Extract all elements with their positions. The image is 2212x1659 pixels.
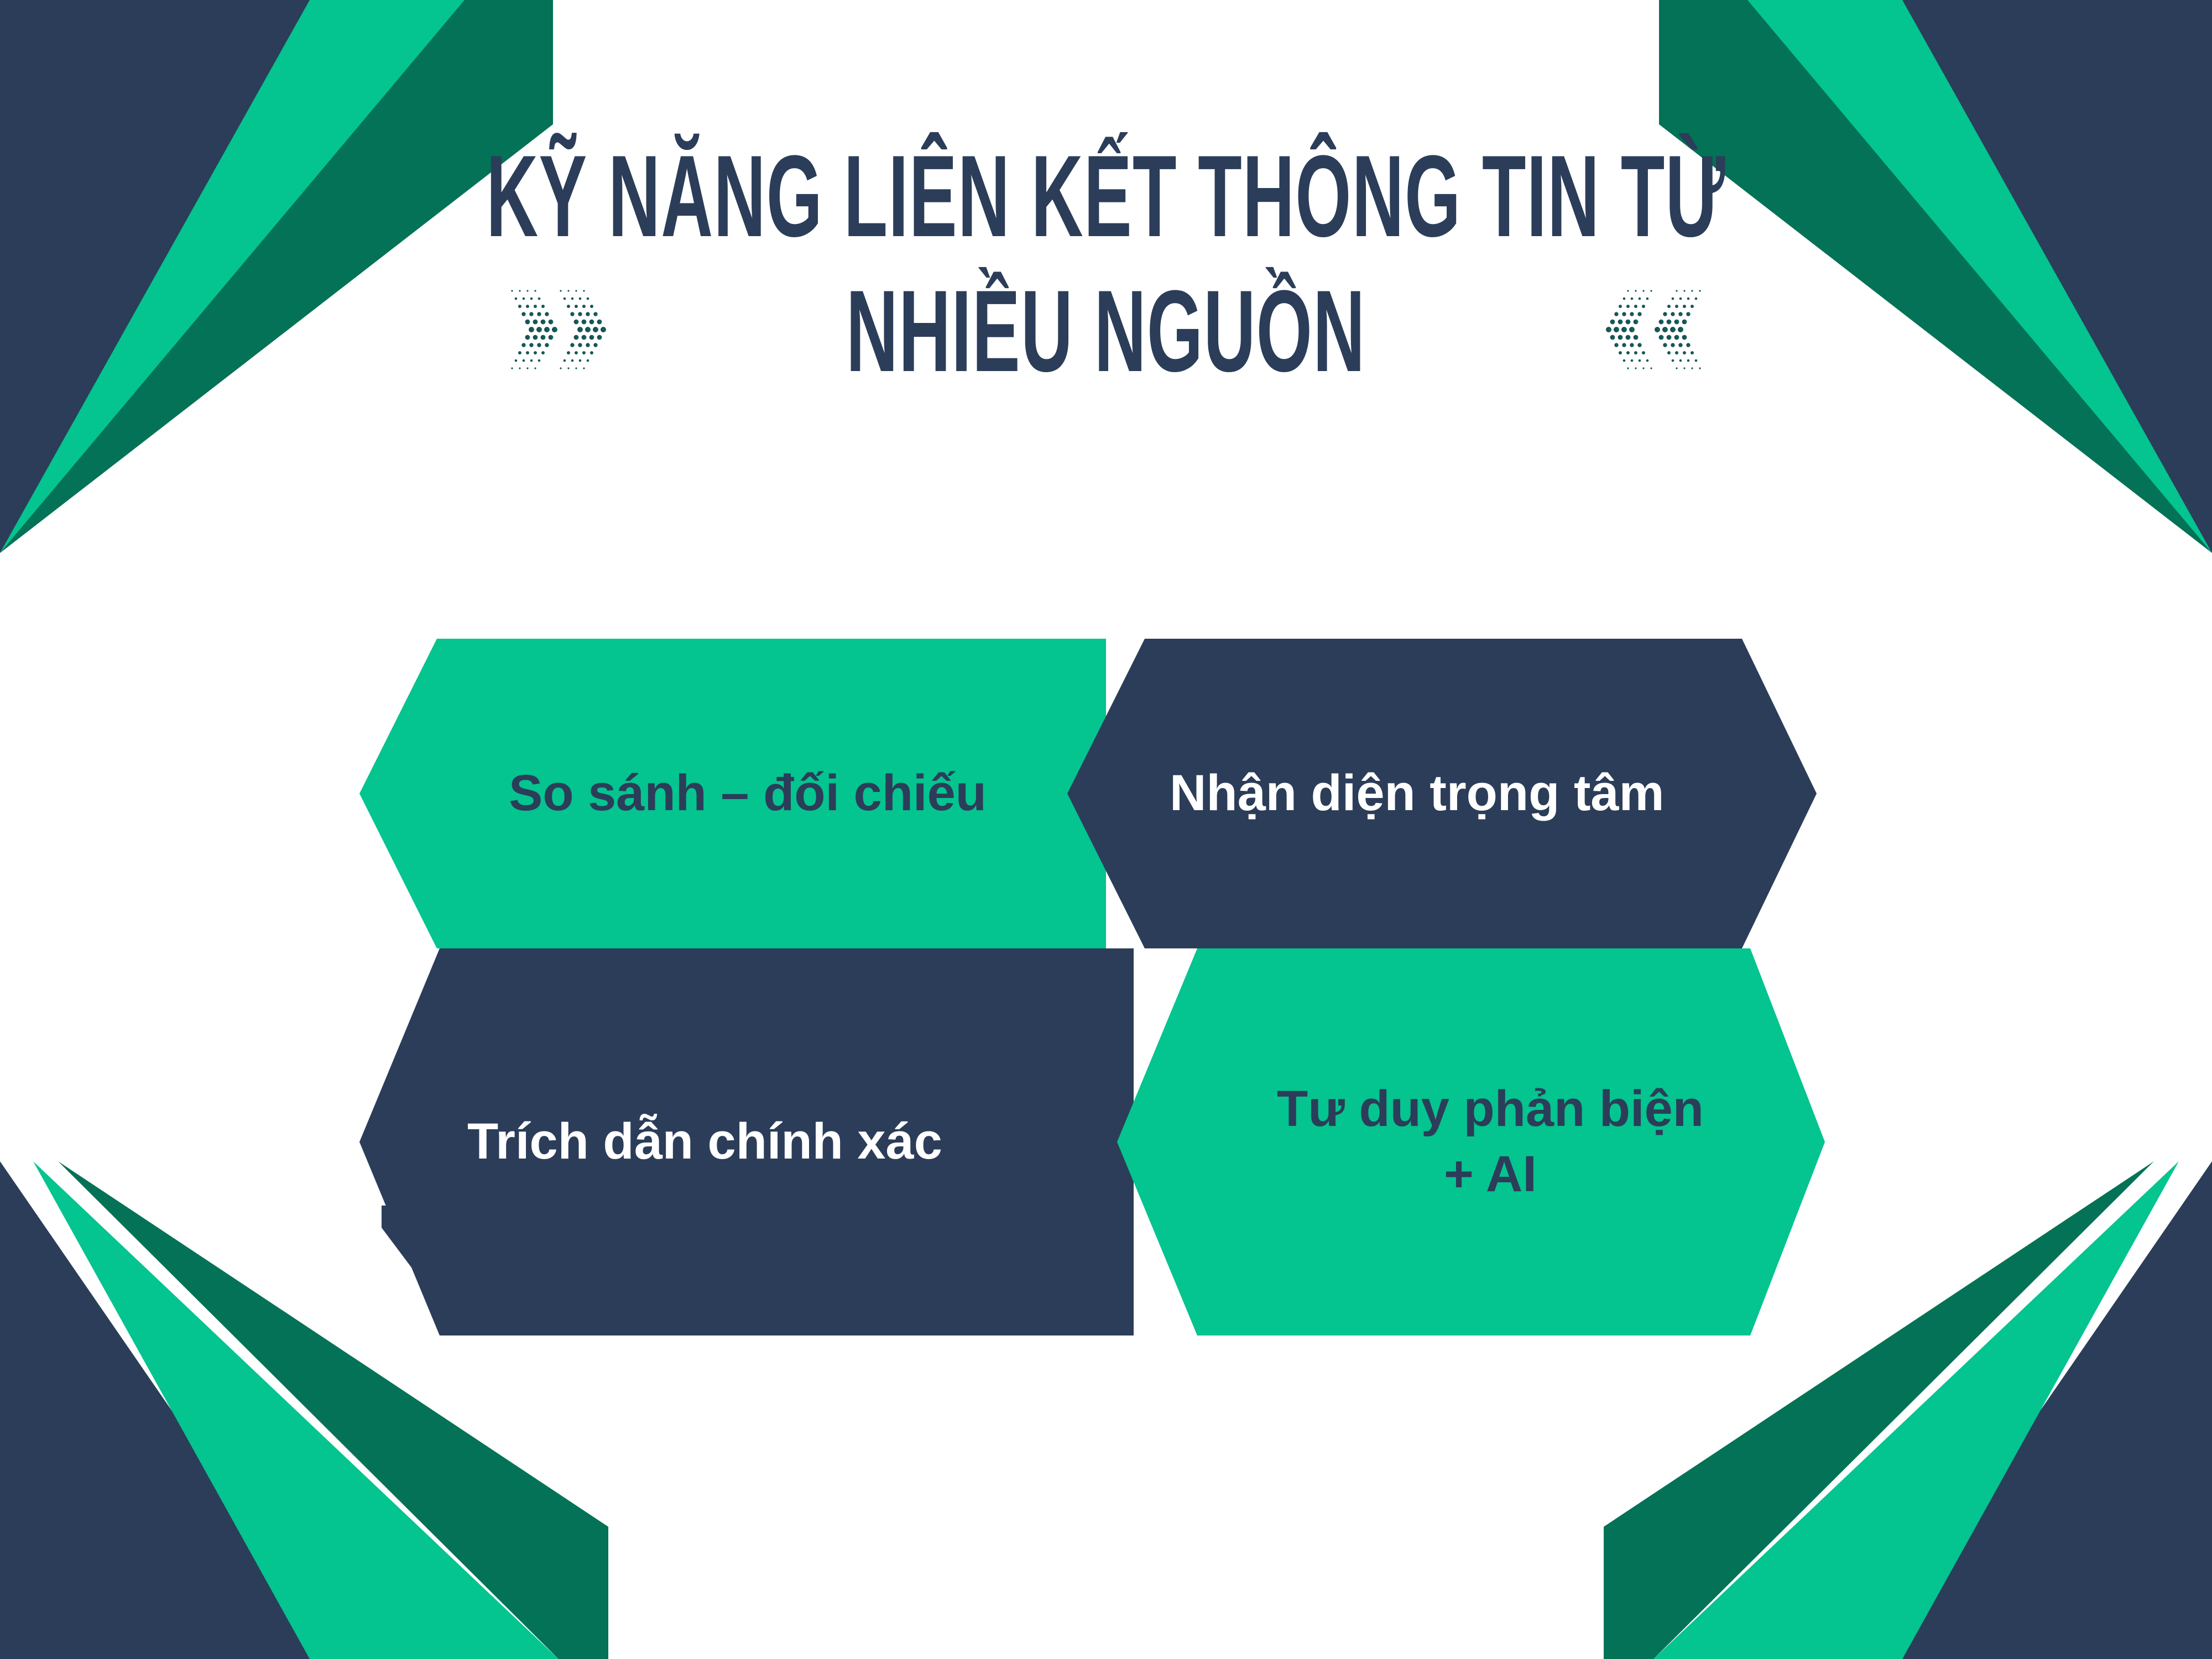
corner-triangle-navy-icon	[1869, 1161, 2212, 1659]
title-line-2-row: NHIỀU NGUỒN	[0, 273, 2212, 389]
skill-label: Nhận diện trọng tâm	[1170, 761, 1664, 826]
skill-label: So sánh – đối chiếu	[509, 761, 987, 826]
skill-chevron-so-sanh-doi-chieu[interactable]: So sánh – đối chiếu	[359, 639, 1106, 948]
corner-triangle-navy-icon	[0, 1161, 343, 1659]
double-chevron-right-halftone-icon	[502, 279, 657, 384]
skill-chevron-tu-duy-phan-bien-ai[interactable]: Tư duy phản biện + AI	[1117, 948, 1825, 1335]
skills-chevron-group: So sánh – đối chiếu Nhận diện trọng tâm …	[0, 639, 2212, 1159]
title-line-2: NHIỀU NGUỒN	[846, 273, 1366, 389]
skill-chevron-trich-dan-chinh-xac[interactable]: Trích dẫn chính xác	[359, 948, 1134, 1335]
skill-label: Trích dẫn chính xác	[467, 1109, 942, 1175]
skill-label: Tư duy phản biện + AI	[1230, 1077, 1750, 1207]
slide-title: KỸ NĂNG LIÊN KẾT THÔNG TIN TỪ	[0, 138, 2212, 389]
skill-chevron-nhan-dien-trong-tam[interactable]: Nhận diện trọng tâm	[1067, 639, 1817, 948]
double-chevron-left-halftone-icon	[1555, 279, 1710, 384]
title-line-1: KỸ NĂNG LIÊN KẾT THÔNG TIN TỪ	[420, 138, 1792, 254]
slide-canvas: KỸ NĂNG LIÊN KẾT THÔNG TIN TỪ	[0, 0, 2212, 1659]
